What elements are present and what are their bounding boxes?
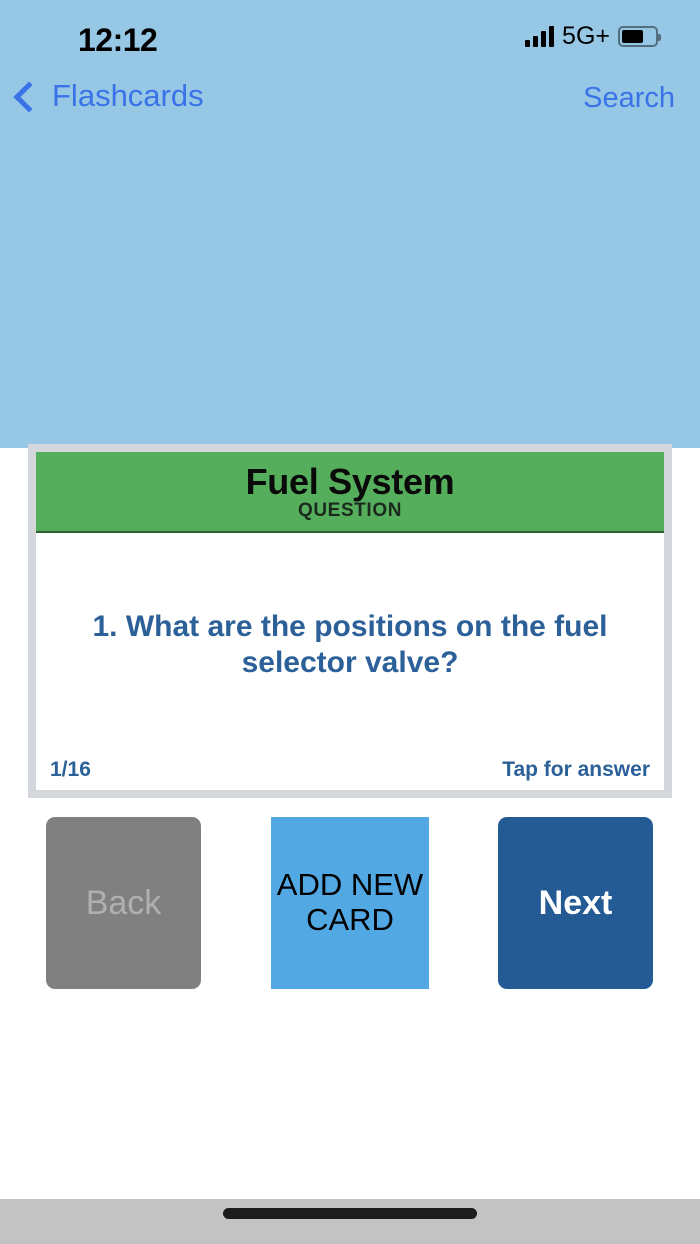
add-new-card-button[interactable]: ADD NEW CARD — [271, 817, 429, 989]
home-indicator[interactable] — [223, 1208, 477, 1219]
flashcard-footer: 1/16 Tap for answer — [36, 759, 664, 780]
flashcard[interactable]: Fuel System QUESTION 1. What are the pos… — [28, 444, 672, 798]
card-counter: 1/16 — [50, 759, 91, 780]
flashcard-side-label: QUESTION — [298, 501, 402, 522]
flashcard-title: Fuel System — [246, 463, 455, 501]
status-bar: 12:12 5G+ — [0, 0, 700, 74]
back-card-button[interactable]: Back — [46, 817, 201, 989]
search-button[interactable]: Search — [583, 84, 675, 113]
back-button[interactable]: Flashcards — [18, 80, 204, 111]
flashcard-body: 1. What are the positions on the fuel se… — [36, 533, 664, 790]
flashcard-header: Fuel System QUESTION — [36, 452, 664, 533]
top-blue-area: 12:12 5G+ Flashcards Search — [0, 0, 700, 448]
chevron-left-icon — [13, 81, 44, 112]
battery-icon — [618, 26, 658, 47]
status-time: 12:12 — [78, 22, 157, 59]
tap-for-answer-hint[interactable]: Tap for answer — [502, 759, 650, 780]
flashcard-inner: Fuel System QUESTION 1. What are the pos… — [36, 452, 664, 790]
next-card-button[interactable]: Next — [498, 817, 653, 989]
network-type-label: 5G+ — [562, 24, 610, 49]
navigation-bar: Flashcards Search — [0, 74, 700, 134]
flashcard-question-text: 1. What are the positions on the fuel se… — [58, 609, 642, 680]
signal-bars-icon — [525, 26, 554, 47]
home-indicator-area — [0, 1199, 700, 1244]
status-indicators: 5G+ — [525, 24, 658, 49]
back-button-label: Flashcards — [52, 80, 204, 111]
action-button-row: Back ADD NEW CARD Next — [0, 817, 700, 989]
